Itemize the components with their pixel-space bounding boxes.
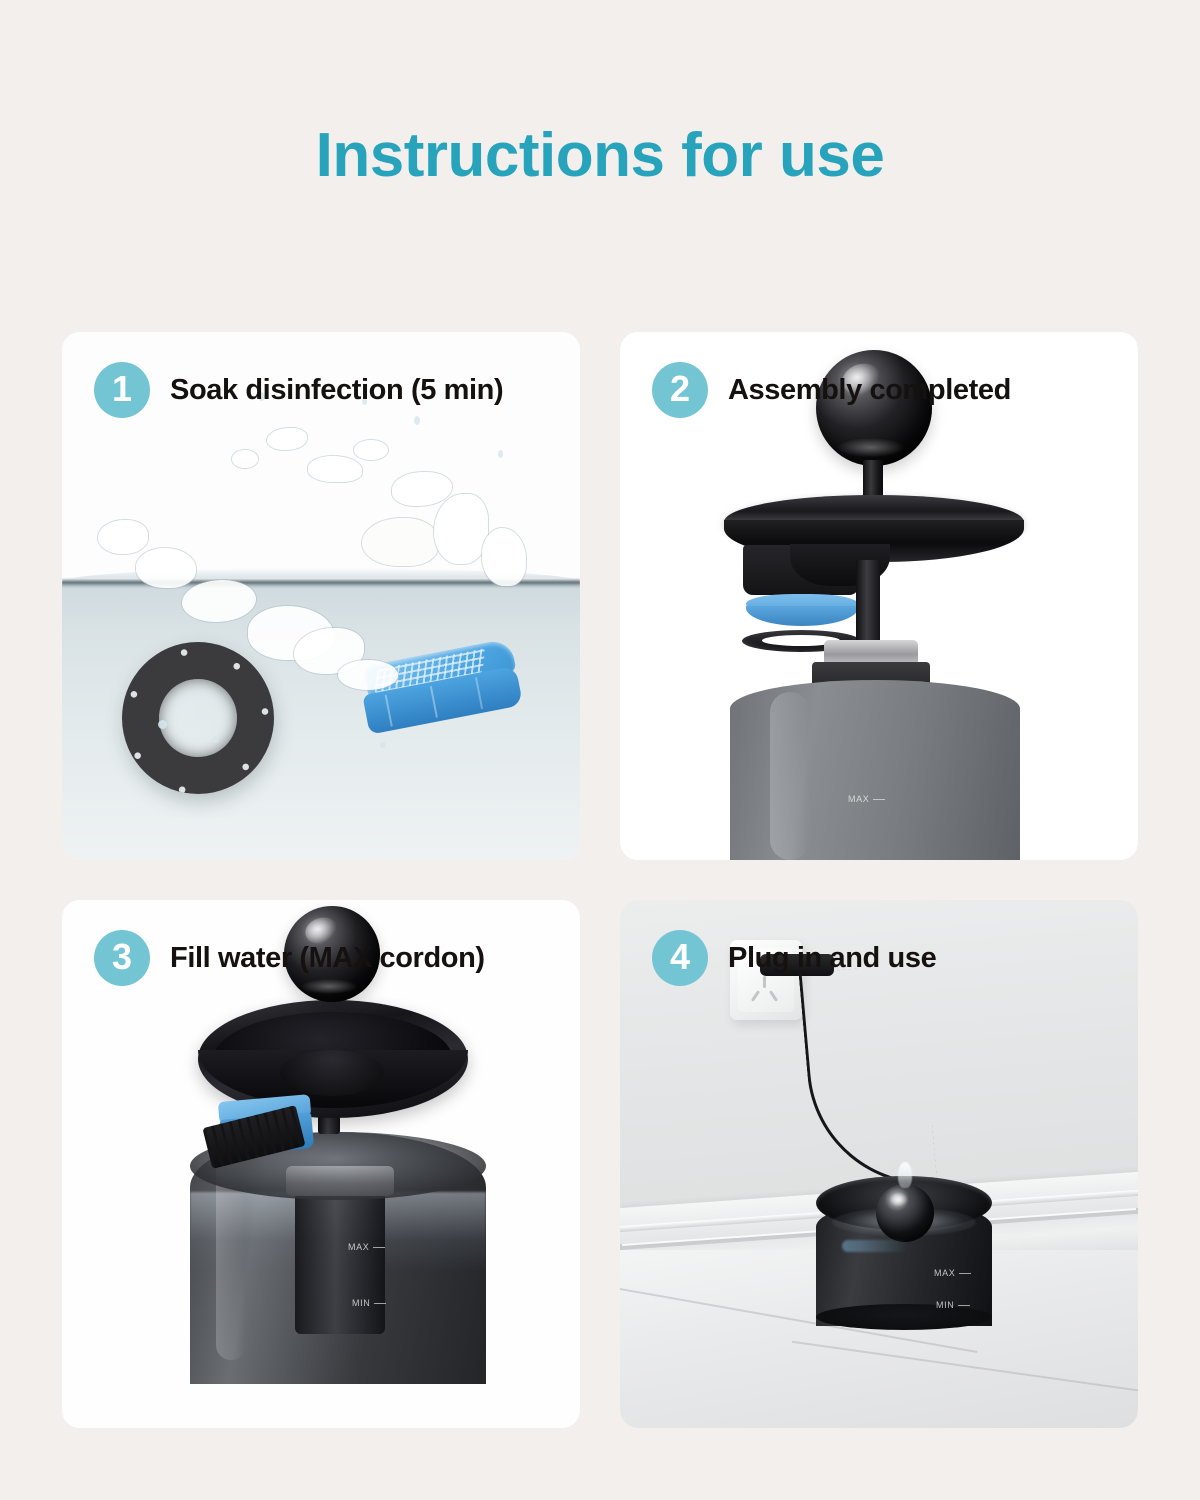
step-3-header: 3 Fill water (MAX cordon) (94, 930, 485, 986)
body-highlight (842, 1240, 908, 1252)
step-title: Soak disinfection (5 min) (170, 374, 503, 407)
max-level-marking: MAX (934, 1268, 955, 1278)
step-card-3: MAX MIN 3 Fill water (MAX cordon) (62, 900, 580, 1428)
reservoir-highlight (770, 692, 810, 860)
assembled-fountain: MAX MIN (816, 1176, 992, 1326)
step-number-badge: 2 (652, 362, 708, 418)
blue-filter-part (746, 594, 858, 626)
steps-grid: 1 Soak disinfection (5 min) MAX (62, 332, 1138, 1436)
step-number-badge: 4 (652, 930, 708, 986)
step-number-badge: 1 (94, 362, 150, 418)
outlet-slot (751, 990, 760, 1002)
outlet-socket-slots (752, 984, 782, 1006)
pump-column-part (295, 1184, 385, 1334)
outlet-slot (769, 990, 778, 1002)
step-title: Plug in and use (728, 942, 936, 975)
step-2-header: 2 Assembly completed (652, 362, 1011, 418)
max-level-marking: MAX (848, 794, 869, 804)
step-1-header: 1 Soak disinfection (5 min) (94, 362, 503, 418)
water-jet (898, 1162, 912, 1188)
step-card-2: MAX 2 Assembly completed (620, 332, 1138, 860)
min-level-marking: MIN (936, 1300, 954, 1310)
water-surface-line (62, 578, 580, 588)
max-level-marking: MAX (348, 1242, 369, 1252)
fountain-ball-part (876, 1184, 934, 1242)
filter-side-face (746, 606, 858, 626)
pump-riser-part (856, 560, 880, 646)
step-4-header: 4 Plug in and use (652, 930, 936, 986)
min-level-marking: MIN (352, 1298, 370, 1308)
tray-hub-part (280, 1050, 384, 1096)
step-title: Fill water (MAX cordon) (170, 942, 485, 975)
page-title: Instructions for use (0, 120, 1200, 191)
step-title: Assembly completed (728, 374, 1011, 407)
fountain-base (816, 1304, 992, 1330)
step-number-badge: 3 (94, 930, 150, 986)
step-card-4: MAX MIN 4 Plug in and use (620, 900, 1138, 1428)
step-card-1: 1 Soak disinfection (5 min) (62, 332, 580, 860)
